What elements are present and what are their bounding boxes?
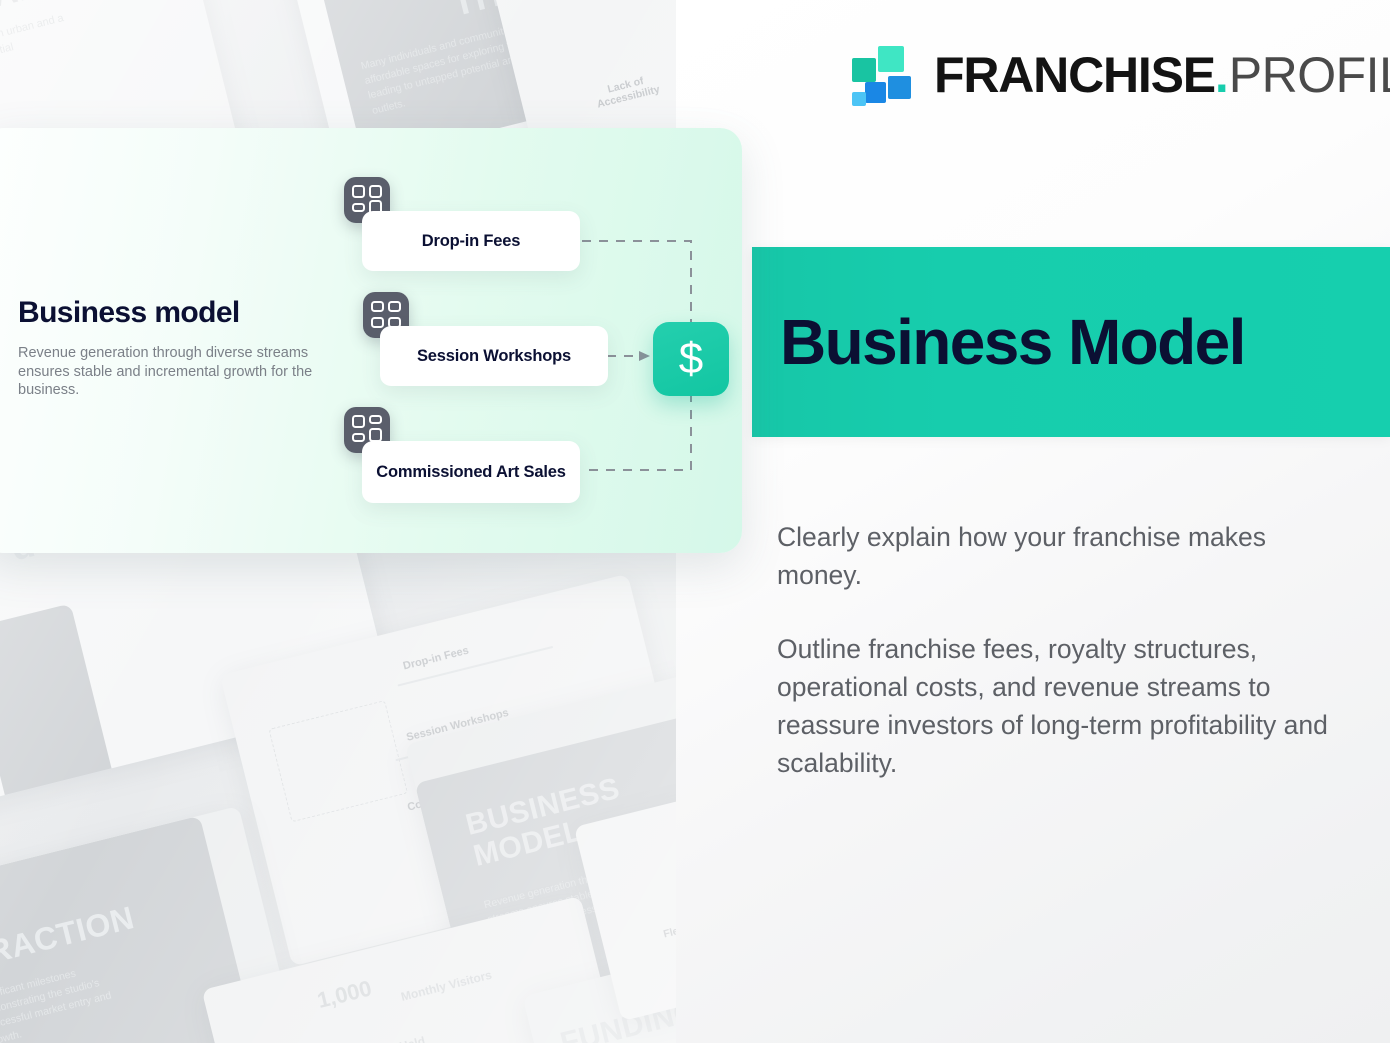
bg-stat-value: 1,000: [315, 975, 375, 1014]
logo-wordmark: FRANCHISE.PROFILES: [934, 46, 1390, 104]
revenue-node-label: Session Workshops: [417, 346, 571, 366]
business-model-card: Business model Revenue generation throug…: [0, 128, 742, 553]
revenue-node-commissioned-art-sales[interactable]: Commissioned Art Sales: [362, 441, 580, 503]
square-teal-large: [878, 46, 904, 72]
square-blue-right: [888, 76, 911, 99]
square-blue-mid: [865, 82, 886, 103]
description-paragraph-1: Clearly explain how your franchise makes…: [777, 518, 1353, 594]
card-title: Business model: [18, 296, 318, 330]
bg-panel: [0, 603, 128, 811]
section-banner: Business Model: [752, 247, 1390, 437]
revenue-node-label: Drop-in Fees: [422, 231, 520, 251]
bg-stat-label: Workshops Held: [332, 1034, 427, 1043]
bg-slide-body: spaces in urban and a substantial: [0, 1, 110, 68]
bg-label: Lack of Accessibility: [580, 69, 673, 114]
card-subtitle: Revenue generation through diverse strea…: [18, 344, 318, 400]
revenue-node-label: Commissioned Art Sales: [376, 462, 565, 482]
logo-text-light: PROFILES: [1229, 46, 1390, 104]
description-text: Clearly explain how your franchise makes…: [777, 518, 1353, 782]
page-title: Business Model: [780, 305, 1245, 379]
bg-label: Flexible Pricing: [661, 910, 676, 941]
svg-text:$: $: [679, 335, 703, 383]
logo-dot: .: [1215, 46, 1229, 104]
logo-text-bold: FRANCHISE: [934, 46, 1215, 104]
bg-stat-label: Monthly Visitors: [400, 968, 494, 1004]
dollar-icon[interactable]: $: [653, 322, 729, 396]
description-paragraph-2: Outline franchise fees, royalty structur…: [777, 630, 1353, 782]
brand-logo: FRANCHISE.PROFILES: [852, 44, 1390, 106]
revenue-node-session-workshops[interactable]: Session Workshops: [380, 326, 608, 386]
logo-mark-icon: [852, 44, 910, 106]
revenue-node-drop-in-fees[interactable]: Drop-in Fees: [362, 211, 580, 271]
dollar-glyph: $: [671, 335, 711, 383]
card-text-block: Business model Revenue generation throug…: [18, 296, 318, 400]
square-blue-light: [852, 92, 866, 106]
square-teal-dark: [852, 58, 876, 82]
bg-dashed-frame: [268, 700, 408, 822]
